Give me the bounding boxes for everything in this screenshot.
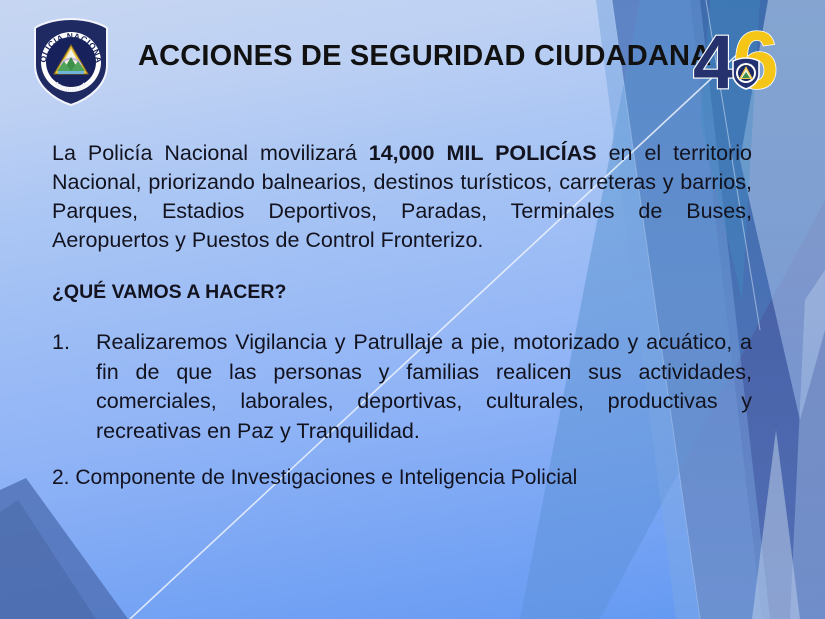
page-title: ACCIONES DE SEGURIDAD CIUDADANA <box>138 40 711 73</box>
anniversary-46-logo: 4 6 <box>689 14 807 106</box>
policia-nacional-badge: POLICIA NACIONAL NICARAGUA <box>31 17 111 107</box>
intro-highlight: 14,000 MIL POLICÍAS <box>369 141 597 165</box>
intro-paragraph: La Policía Nacional movilizará 14,000 MI… <box>52 139 752 255</box>
slide-header: POLICIA NACIONAL NICARAGUA ACCION <box>0 0 825 112</box>
list-item-1: 1. Realizaremos Vigilancia y Patrullaje … <box>52 328 752 446</box>
anniversary-digit-4: 4 <box>693 20 735 105</box>
presentation-slide: POLICIA NACIONAL NICARAGUA ACCION <box>0 0 825 619</box>
list-item-1-text: Realizaremos Vigilancia y Patrullaje a p… <box>96 328 752 446</box>
list-item-2: 2. Componente de Investigaciones e Intel… <box>52 464 752 492</box>
question-heading: ¿QUÉ VAMOS A HACER? <box>52 281 286 304</box>
anniversary-emblem-icon <box>733 58 759 89</box>
list-item-1-number: 1. <box>52 328 92 358</box>
intro-part-1: La Policía Nacional movilizará <box>52 141 369 165</box>
